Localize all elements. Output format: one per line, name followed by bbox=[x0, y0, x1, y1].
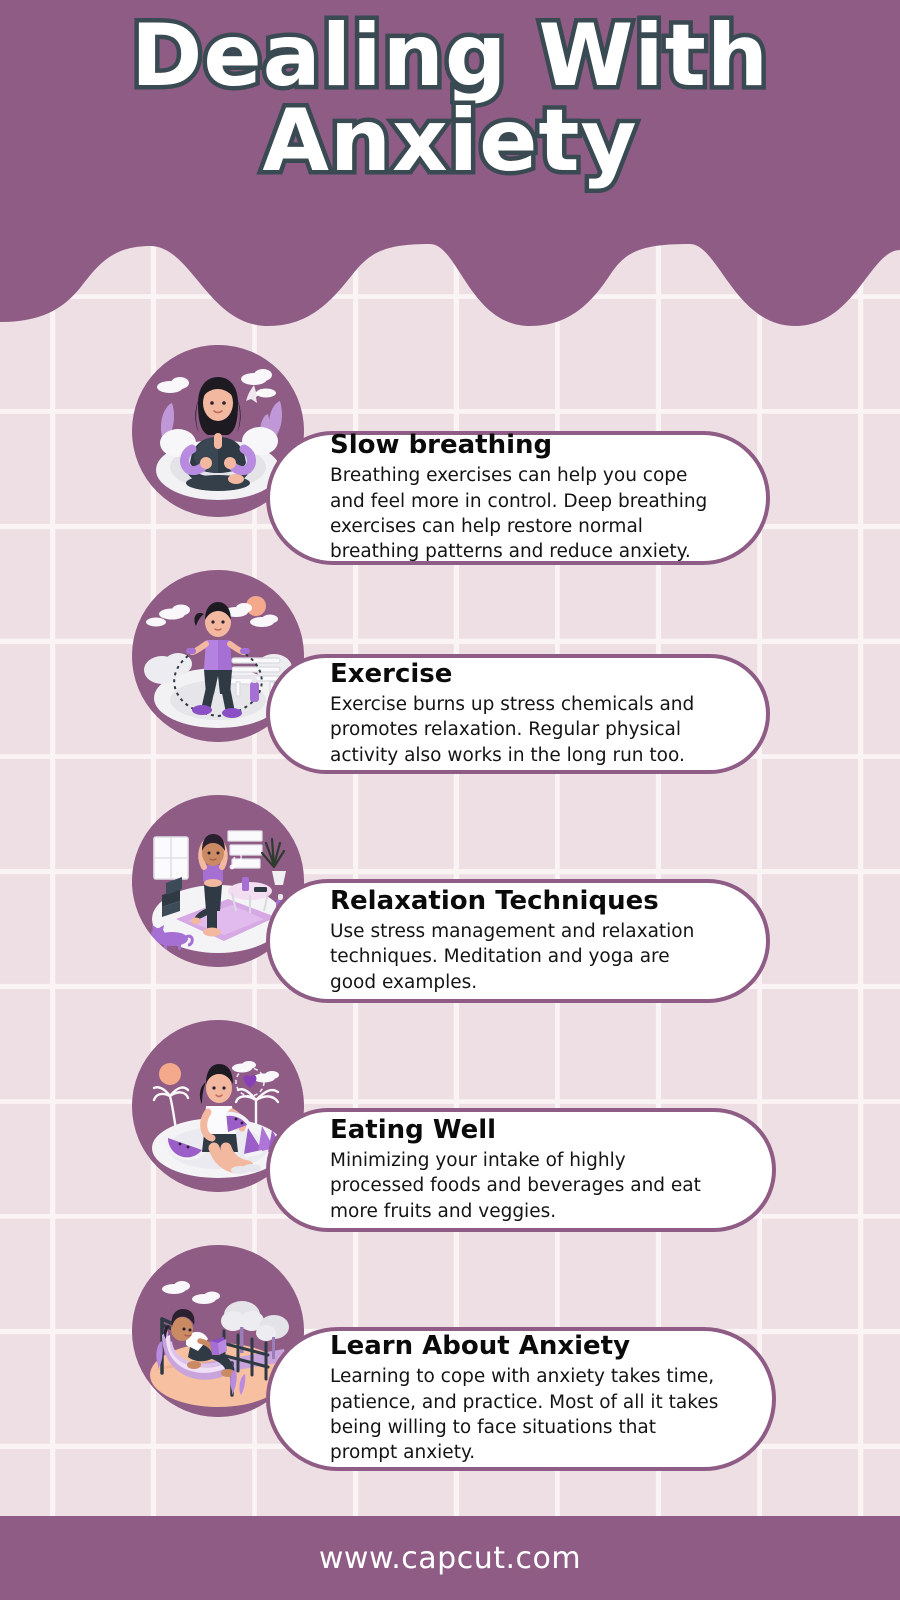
card-title: Slow breathing bbox=[330, 431, 718, 461]
card-exercise[interactable]: Exercise Exercise burns up stress chemic… bbox=[266, 654, 770, 774]
footer-bar: www.capcut.com bbox=[0, 1516, 900, 1600]
card-learn-about-anxiety[interactable]: Learn About Anxiety Learning to cope wit… bbox=[266, 1327, 776, 1471]
card-title: Learn About Anxiety bbox=[330, 1332, 724, 1362]
card-body: Breathing exercises can help you cope an… bbox=[330, 463, 718, 564]
card-body: Use stress management and relaxation tec… bbox=[330, 919, 718, 995]
page-title: Dealing With Anxiety bbox=[0, 14, 900, 184]
infographic-poster: Dealing With Anxiety bbox=[0, 0, 900, 1600]
card-body: Minimizing your intake of highly process… bbox=[330, 1148, 724, 1224]
section-row-relaxation: Relaxation Techniques Use stress managem… bbox=[0, 795, 900, 970]
section-row-slow-breathing: Slow breathing Breathing exercises can h… bbox=[0, 345, 900, 520]
section-row-eating-well: Eating Well Minimizing your intake of hi… bbox=[0, 1020, 900, 1195]
section-row-exercise: Exercise Exercise burns up stress chemic… bbox=[0, 570, 900, 745]
card-eating-well[interactable]: Eating Well Minimizing your intake of hi… bbox=[266, 1108, 776, 1232]
header-banner: Dealing With Anxiety bbox=[0, 0, 900, 330]
footer-url[interactable]: www.capcut.com bbox=[319, 1541, 581, 1576]
card-body: Exercise burns up stress chemicals and p… bbox=[330, 692, 718, 768]
card-title: Relaxation Techniques bbox=[330, 887, 718, 917]
card-title: Exercise bbox=[330, 660, 718, 690]
card-slow-breathing[interactable]: Slow breathing Breathing exercises can h… bbox=[266, 431, 770, 565]
section-row-learn-about-anxiety: Learn About Anxiety Learning to cope wit… bbox=[0, 1245, 900, 1425]
card-body: Learning to cope with anxiety takes time… bbox=[330, 1364, 724, 1465]
card-relaxation-techniques[interactable]: Relaxation Techniques Use stress managem… bbox=[266, 879, 770, 1003]
card-title: Eating Well bbox=[330, 1116, 724, 1146]
